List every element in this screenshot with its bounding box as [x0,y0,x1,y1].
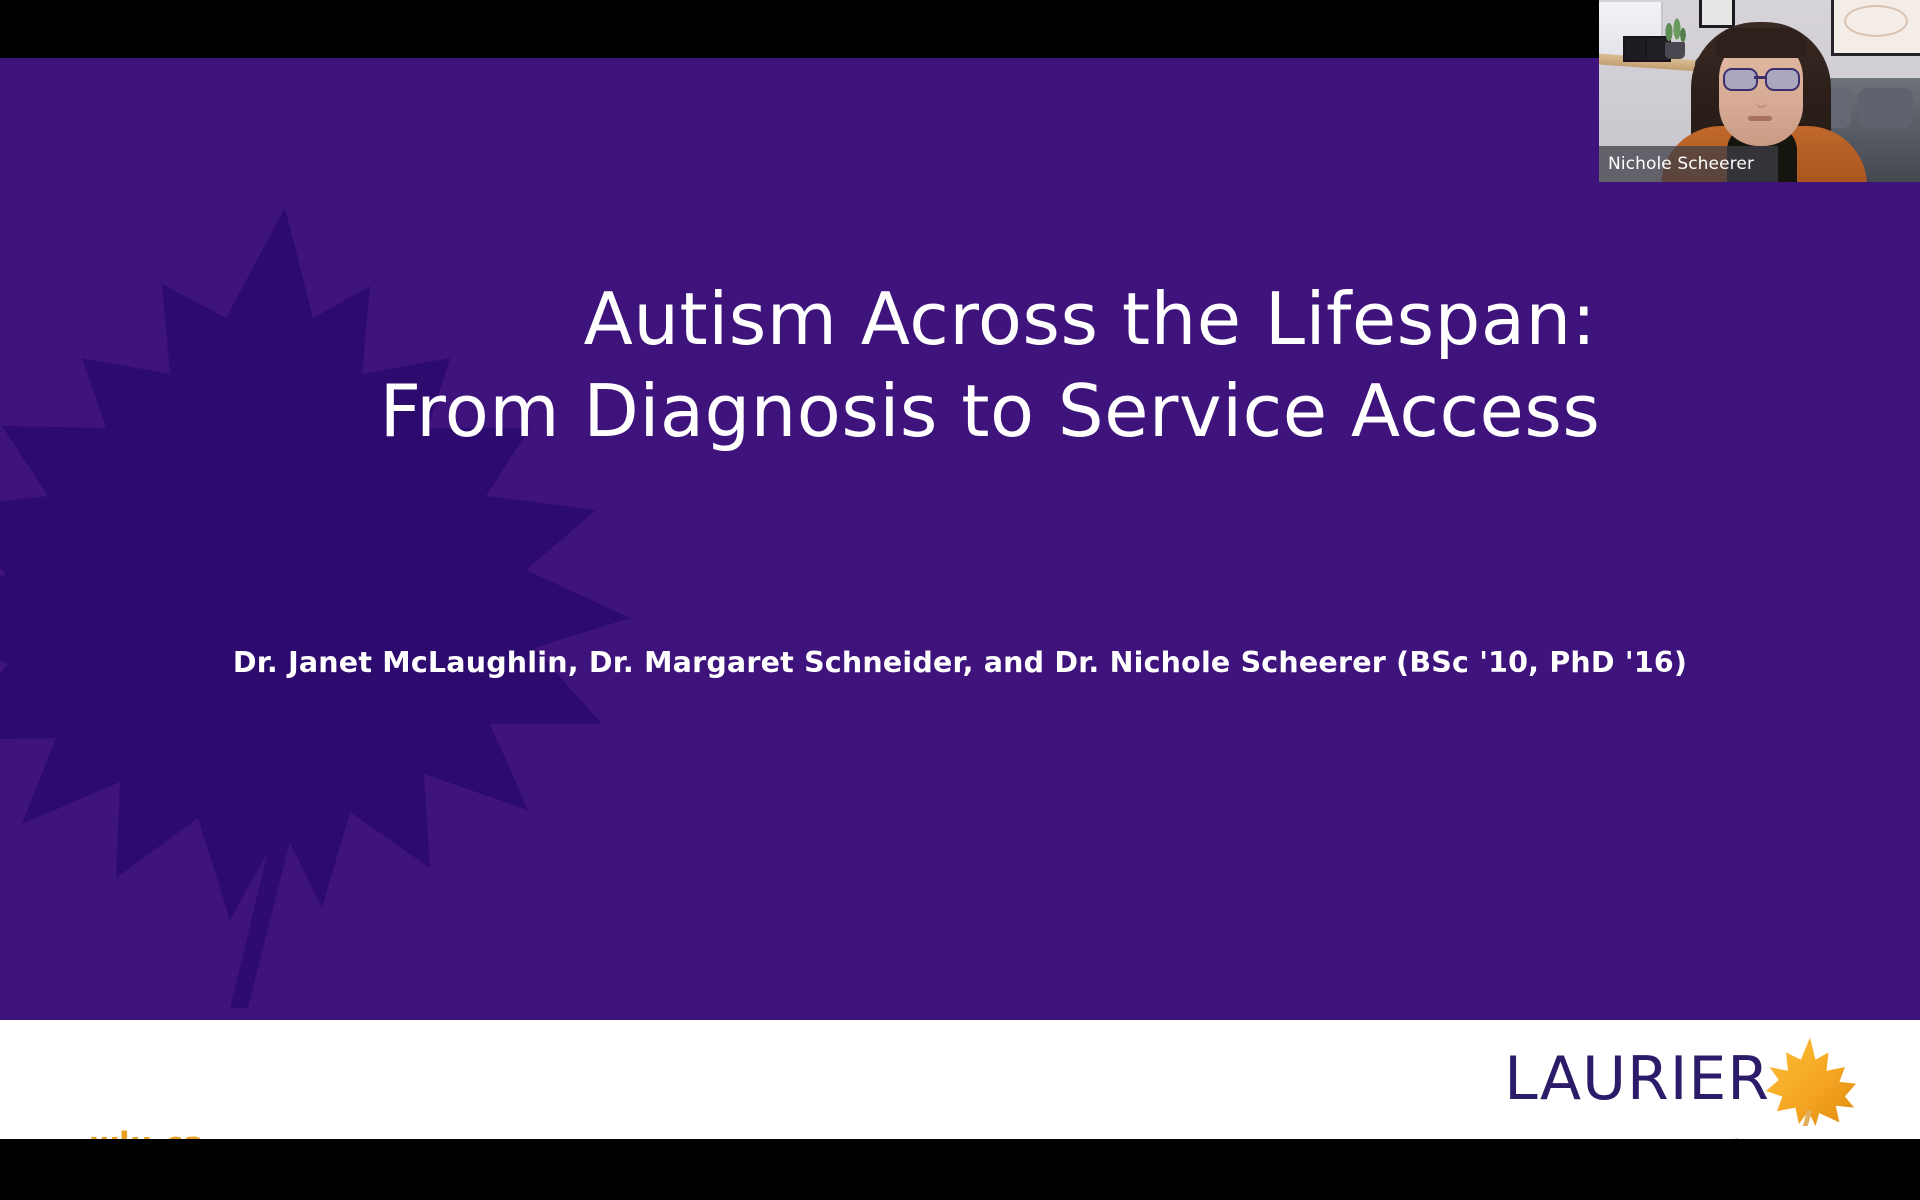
wall-art-small [1699,0,1735,28]
slide-authors: Dr. Janet McLaughlin, Dr. Margaret Schne… [0,646,1920,679]
participant-name-badge: Nichole Scheerer [1599,146,1778,182]
video-call-screen: Autism Across the Lifespan: From Diagnos… [0,0,1920,1200]
eyeglasses-icon [1721,68,1801,88]
laurier-wordmark-row: LAURIER [1377,1048,1858,1126]
wall-art-large [1831,0,1920,56]
eyeglass-lens-left [1723,68,1758,91]
letterbox-bottom-bar [0,1139,1920,1200]
person-mouth [1748,116,1772,121]
participant-name-label: Nichole Scheerer [1599,154,1754,174]
eyeglass-lens-right [1765,68,1800,91]
laurier-wordmark: LAURIER [1504,1048,1770,1110]
maple-leaf-logo-icon [1762,1034,1858,1126]
plant-pot-icon [1665,42,1685,59]
slide-title-line-2: From Diagnosis to Service Access [0,365,1910,457]
slide-title: Autism Across the Lifespan: From Diagnos… [0,273,1920,457]
slide-title-line-1: Autism Across the Lifespan: [0,273,1910,365]
participant-video-tile[interactable]: Nichole Scheerer [1599,0,1920,182]
footer-website-url: wlu.ca [90,1126,205,1139]
person-bangs [1715,28,1807,58]
presentation-slide: Autism Across the Lifespan: From Diagnos… [0,58,1920,1139]
eyeglass-bridge [1754,76,1765,79]
laurier-logo: LAURIER WILFRID LAURIER UNIVERSITY [1377,1048,1858,1139]
